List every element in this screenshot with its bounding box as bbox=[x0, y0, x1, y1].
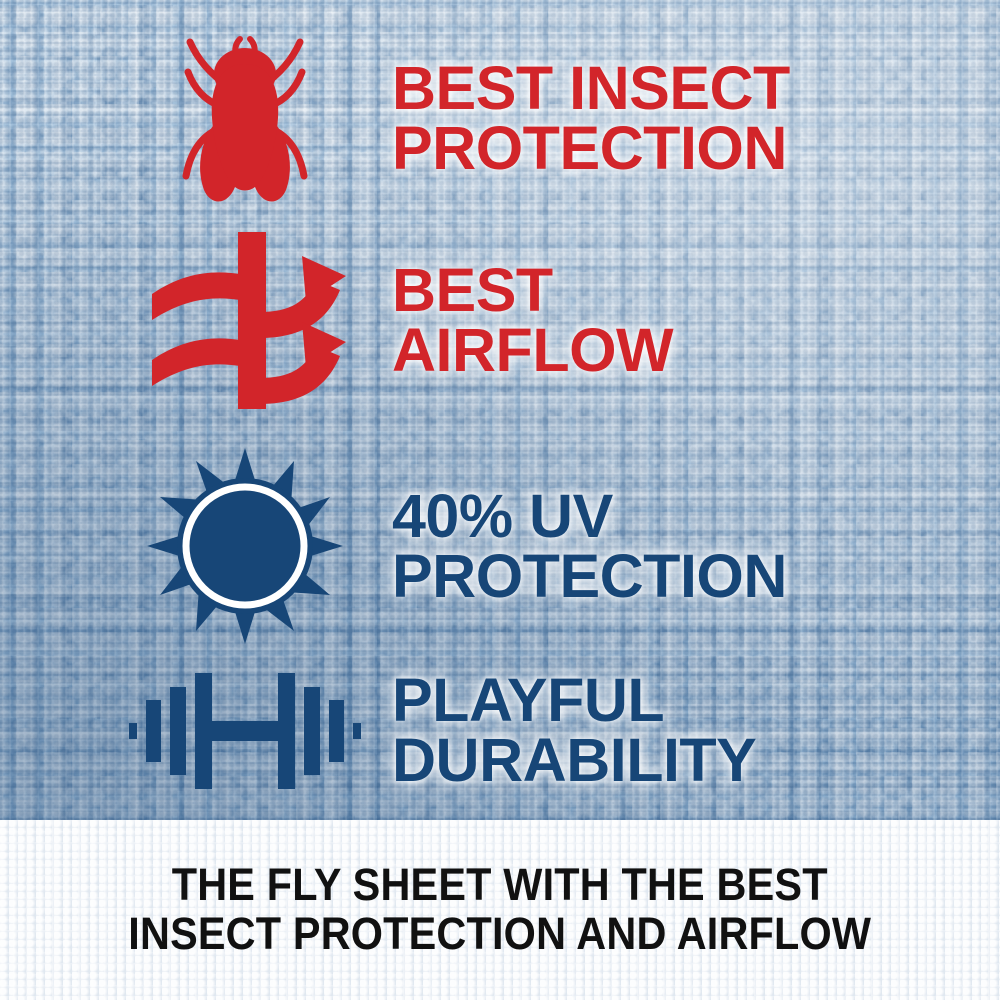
feature-row-airflow: BEST AIRFLOW bbox=[120, 222, 900, 418]
sun-icon bbox=[145, 446, 345, 646]
dumbbell-plate-inner-left bbox=[170, 687, 186, 775]
feature-text-cell: PLAYFUL DURABILITY bbox=[370, 670, 900, 791]
airflow-band-upper-left bbox=[152, 272, 240, 320]
caption-headline: THE FLY SHEET WITH THE BEST INSECT PROTE… bbox=[129, 861, 872, 958]
feature-icon-cell bbox=[120, 18, 370, 218]
feature-text-cell: 40% UV PROTECTION bbox=[370, 486, 900, 607]
sun-disc bbox=[177, 478, 313, 614]
dumbbell-icon bbox=[125, 663, 365, 798]
feature-text-cell: BEST INSECT PROTECTION bbox=[370, 58, 900, 179]
caption-bar: THE FLY SHEET WITH THE BEST INSECT PROTE… bbox=[0, 820, 1000, 1000]
feature-text-cell: BEST AIRFLOW bbox=[370, 260, 900, 381]
feature-icon-cell bbox=[120, 440, 370, 652]
fly-icon bbox=[170, 26, 320, 211]
dumbbell-plate-inner-right bbox=[304, 687, 320, 775]
dumbbell-collar-left bbox=[195, 673, 212, 789]
dumbbell-plate-outer-left bbox=[129, 723, 137, 739]
airflow-band-lower-left bbox=[152, 338, 240, 386]
dumbbell-collar-right bbox=[278, 673, 295, 789]
dumbbell-plate-mid-right bbox=[329, 700, 344, 762]
feature-list: BEST INSECT PROTECTION bbox=[0, 0, 1000, 820]
airflow-icon bbox=[140, 228, 350, 413]
dumbbell-handle-bar bbox=[212, 721, 278, 741]
infographic-poster: BEST INSECT PROTECTION bbox=[0, 0, 1000, 1000]
feature-label-insect-protection: BEST INSECT PROTECTION bbox=[392, 58, 900, 179]
feature-row-durability: PLAYFUL DURABILITY bbox=[120, 650, 900, 810]
feature-label-airflow: BEST AIRFLOW bbox=[392, 260, 900, 381]
feature-icon-cell bbox=[120, 650, 370, 810]
dumbbell-plate-mid-left bbox=[146, 700, 161, 762]
feature-label-uv-protection: 40% UV PROTECTION bbox=[392, 486, 900, 607]
feature-row-uv-protection: 40% UV PROTECTION bbox=[120, 440, 900, 652]
dumbbell-plate-outer-right bbox=[353, 723, 361, 739]
feature-label-durability: PLAYFUL DURABILITY bbox=[392, 670, 900, 791]
feature-row-insect-protection: BEST INSECT PROTECTION bbox=[120, 18, 900, 218]
feature-icon-cell bbox=[120, 222, 370, 418]
